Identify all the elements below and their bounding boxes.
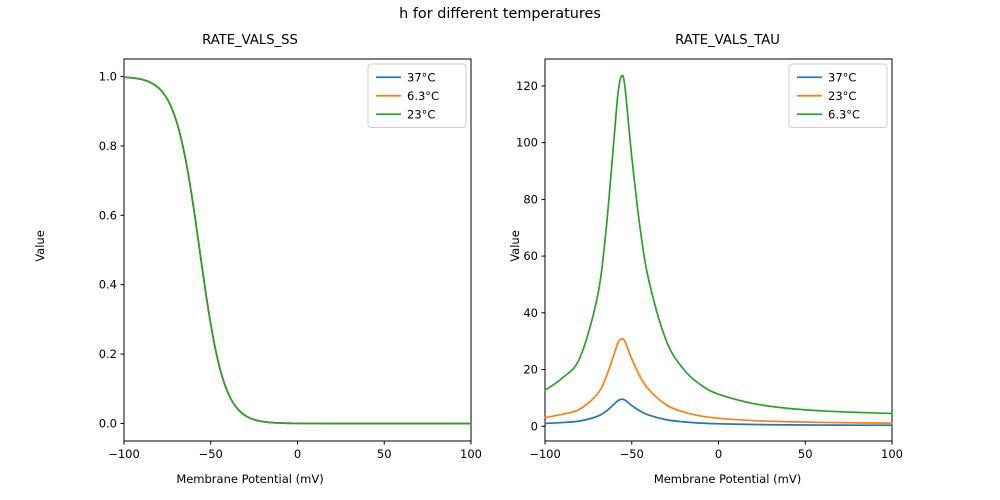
x-tick-label: 50	[377, 447, 392, 461]
legend-label: 37°C	[828, 70, 856, 84]
x-tick-label: 0	[294, 447, 301, 461]
y-tick-label: 0	[531, 419, 538, 433]
y-tick-label: 1.0	[99, 70, 117, 84]
legend: 37°C6.3°C23°C	[368, 64, 466, 128]
data-curve-green	[124, 77, 471, 423]
y-tick-label: 60	[523, 249, 538, 263]
legend-label: 6.3°C	[407, 89, 439, 103]
right-xaxis-label: Membrane Potential (mV)	[500, 472, 955, 486]
left-plot-canvas: −100−500501000.00.20.40.60.81.037°C6.3°C…	[0, 0, 500, 500]
subplot-rate-vals-tau: RATE_VALS_TAU −100−500501000204060801001…	[500, 0, 1000, 500]
y-tick-label: 0.4	[99, 278, 117, 292]
x-tick-label: −100	[529, 447, 561, 461]
y-tick-label: 100	[516, 136, 538, 150]
x-tick-label: 100	[881, 447, 903, 461]
legend-label: 23°C	[407, 107, 435, 121]
y-tick-label: 0.6	[99, 208, 117, 222]
y-tick-label: 40	[523, 306, 538, 320]
data-curve-blue	[124, 77, 471, 423]
data-curve-orange	[545, 339, 892, 424]
y-tick-label: 120	[516, 79, 538, 93]
subplot-rate-vals-ss: RATE_VALS_SS −100−500501000.00.20.40.60.…	[0, 0, 500, 500]
legend-label: 23°C	[828, 89, 856, 103]
legend-label: 6.3°C	[828, 107, 860, 121]
x-tick-label: −50	[620, 447, 644, 461]
x-tick-label: 50	[798, 447, 813, 461]
y-tick-label: 80	[523, 192, 538, 206]
y-tick-label: 0.8	[99, 139, 117, 153]
matplotlib-figure: h for different temperatures RATE_VALS_S…	[0, 0, 1000, 500]
x-tick-label: −50	[199, 447, 223, 461]
y-tick-label: 0.2	[99, 347, 117, 361]
legend-label: 37°C	[407, 70, 435, 84]
left-yaxis-label: Value	[33, 186, 47, 306]
x-tick-label: 0	[715, 447, 722, 461]
x-tick-label: 100	[460, 447, 482, 461]
right-plot-canvas: −100−5005010002040608010012037°C23°C6.3°…	[500, 0, 1000, 500]
y-tick-label: 0.0	[99, 416, 117, 430]
right-yaxis-label: Value	[508, 186, 522, 306]
y-tick-label: 20	[523, 363, 538, 377]
subplot-left-title: RATE_VALS_SS	[0, 33, 500, 48]
legend: 37°C23°C6.3°C	[789, 64, 887, 128]
left-xaxis-label: Membrane Potential (mV)	[0, 472, 500, 486]
subplot-right-title: RATE_VALS_TAU	[500, 33, 955, 48]
data-curve-orange	[124, 77, 471, 423]
x-tick-label: −100	[108, 447, 140, 461]
